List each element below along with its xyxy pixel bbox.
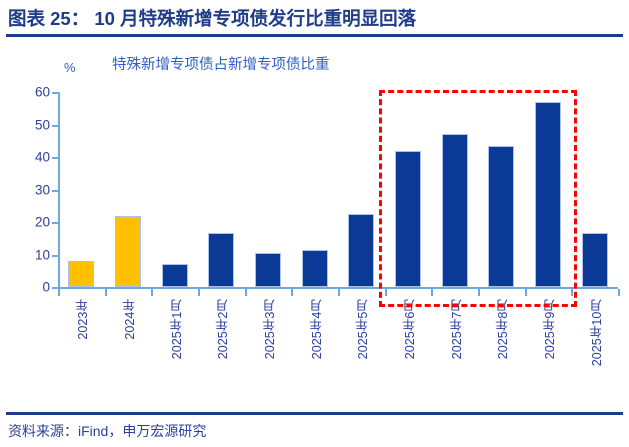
bar — [115, 216, 141, 288]
y-tick-label: 60 — [35, 85, 50, 100]
y-tick-mark — [52, 255, 59, 257]
footer-divider — [6, 412, 623, 415]
x-tick-mark — [105, 289, 107, 296]
x-tick-label: 2025年1月 — [167, 299, 186, 359]
bar — [162, 264, 188, 287]
x-tick-label: 2025年6月 — [400, 299, 419, 359]
y-tick-label: 50 — [35, 117, 50, 132]
x-tick-mark — [245, 289, 247, 296]
x-tick-mark — [58, 289, 60, 296]
x-tick-mark — [525, 289, 527, 296]
y-tick-label: 20 — [35, 215, 50, 230]
x-tick-mark — [198, 289, 200, 296]
x-tick-mark — [618, 289, 620, 296]
bar — [488, 146, 514, 287]
bar — [208, 233, 234, 287]
y-tick-mark — [52, 157, 59, 159]
header-divider — [6, 34, 623, 37]
bar — [535, 102, 561, 287]
y-tick-label: 0 — [42, 280, 50, 295]
x-tick-label: 2024年 — [120, 299, 139, 340]
x-tick-label: 2025年10月 — [587, 299, 606, 366]
x-tick-mark — [431, 289, 433, 296]
bar — [255, 253, 281, 287]
x-tick-label: 2025年8月 — [493, 299, 512, 359]
x-tick-mark — [385, 289, 387, 296]
page-title: 图表 25： 10 月特殊新增专项债发行比重明显回落 — [8, 5, 416, 31]
chart-title: 特殊新增专项债占新增专项债比重 — [112, 53, 330, 74]
x-tick-label: 2025年5月 — [353, 299, 372, 359]
figure-header: 图表 25： 10 月特殊新增专项债发行比重明显回落 — [0, 0, 629, 40]
x-tick-label: 2023年 — [73, 299, 92, 340]
bar — [582, 233, 608, 287]
x-tick-mark — [478, 289, 480, 296]
x-tick-label: 2025年7月 — [447, 299, 466, 359]
bar — [442, 134, 468, 287]
y-tick-label: 30 — [35, 182, 50, 197]
bar — [348, 214, 374, 287]
y-tick-mark — [52, 190, 59, 192]
x-tick-label: 2025年3月 — [260, 299, 279, 359]
y-tick-mark — [52, 92, 59, 94]
bar — [68, 261, 94, 287]
source-note: 资料来源：iFind，申万宏源研究 — [8, 421, 206, 441]
x-tick-mark — [338, 289, 340, 296]
y-axis-unit-label: % — [64, 60, 76, 75]
x-tick-label: 2025年4月 — [307, 299, 326, 359]
x-tick-mark — [151, 289, 153, 296]
x-tick-mark — [571, 289, 573, 296]
y-tick-mark — [52, 125, 59, 127]
y-tick-label: 10 — [35, 247, 50, 262]
bar — [395, 151, 421, 288]
chart-container: 特殊新增专项债占新增专项债比重 % 0102030405060 2023年202… — [0, 40, 629, 410]
x-tick-mark — [291, 289, 293, 296]
y-tick-mark — [52, 222, 59, 224]
y-tick-label: 40 — [35, 150, 50, 165]
plot-area: 0102030405060 2023年2024年2025年1月2025年2月20… — [58, 92, 618, 287]
x-tick-label: 2025年9月 — [540, 299, 559, 359]
x-tick-label: 2025年2月 — [213, 299, 232, 359]
bar — [302, 250, 328, 287]
